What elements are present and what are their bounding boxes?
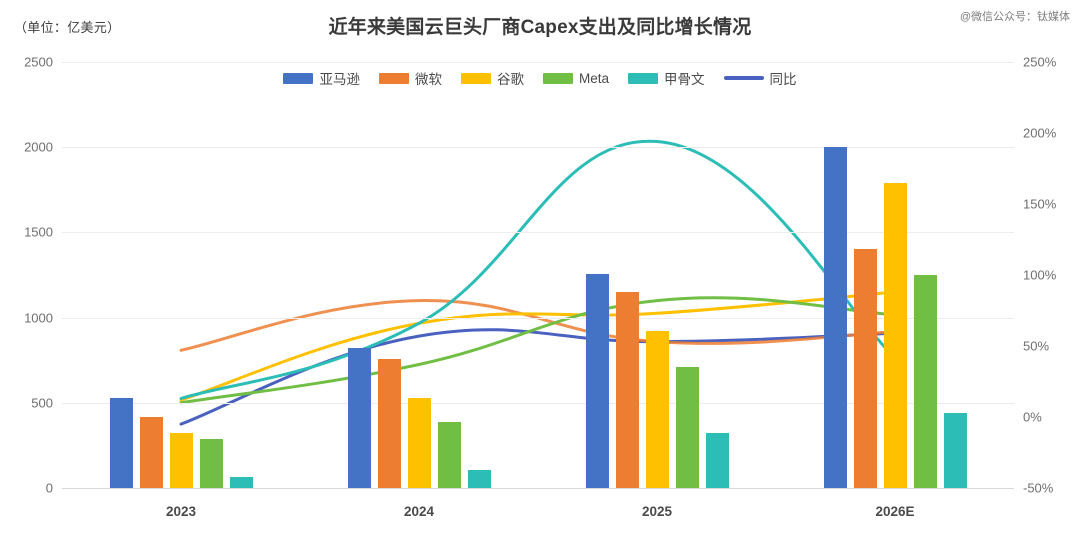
bar-微软-2025[interactable] [616,292,639,488]
x-axis-category-label: 2024 [404,504,434,519]
y2-axis-tick-label: 50% [1023,340,1049,353]
x-axis-category-label: 2026E [875,504,914,519]
bar-Meta-2023[interactable] [200,439,223,488]
y2-axis-tick-label: 150% [1023,198,1056,211]
bar-谷歌-2023[interactable] [170,433,193,488]
gridline-y [62,232,1014,233]
line-series-亚马逊同比[interactable] [181,330,895,424]
watermark: @微信公众号：钛媒体 [960,8,1070,24]
line-series-微软同比[interactable] [181,301,895,351]
y-axis-tick-label: 1000 [24,311,53,324]
bar-Meta-2026E[interactable] [914,275,937,488]
x-axis-category-label: 2025 [642,504,672,519]
y-axis-tick-label: 0 [46,482,53,495]
bar-谷歌-2026E[interactable] [884,183,907,488]
bar-甲骨文-2023[interactable] [230,477,253,488]
gridline-y [62,147,1014,148]
page-title: 近年来美国云巨头厂商Capex支出及同比增长情况 [0,12,1080,39]
y-axis-tick-label: 2500 [24,56,53,69]
y2-axis-tick-label: 200% [1023,127,1056,140]
bar-亚马逊-2024[interactable] [348,348,371,488]
y2-axis-tick-label: 250% [1023,56,1056,69]
bar-Meta-2025[interactable] [676,367,699,488]
bar-亚马逊-2023[interactable] [110,398,133,488]
y2-axis-tick-label: -50% [1023,482,1053,495]
y-axis-tick-label: 2000 [24,141,53,154]
line-series-谷歌同比[interactable] [181,292,895,400]
bar-谷歌-2024[interactable] [408,398,431,488]
gridline-y [62,488,1014,489]
y-axis-tick-label: 500 [31,396,53,409]
bar-甲骨文-2025[interactable] [706,433,729,488]
bar-微软-2023[interactable] [140,417,163,488]
y2-axis-tick-label: 100% [1023,269,1056,282]
bar-Meta-2024[interactable] [438,422,461,488]
y-axis-tick-label: 1500 [24,226,53,239]
x-axis-category-label: 2023 [166,504,196,519]
bar-亚马逊-2025[interactable] [586,274,609,488]
y2-axis-tick-label: 0% [1023,411,1042,424]
bar-谷歌-2025[interactable] [646,331,669,488]
bar-甲骨文-2024[interactable] [468,470,491,488]
bar-甲骨文-2026E[interactable] [944,413,967,488]
chart-container: （单位：亿美元） 近年来美国云巨头厂商Capex支出及同比增长情况 @微信公众号… [0,0,1080,543]
bar-亚马逊-2026E[interactable] [824,147,847,488]
gridline-y [62,62,1014,63]
bar-微软-2026E[interactable] [854,249,877,488]
plot-area: 05001000150020002500-50%0%50%100%150%200… [62,62,1014,488]
bar-微软-2024[interactable] [378,359,401,488]
